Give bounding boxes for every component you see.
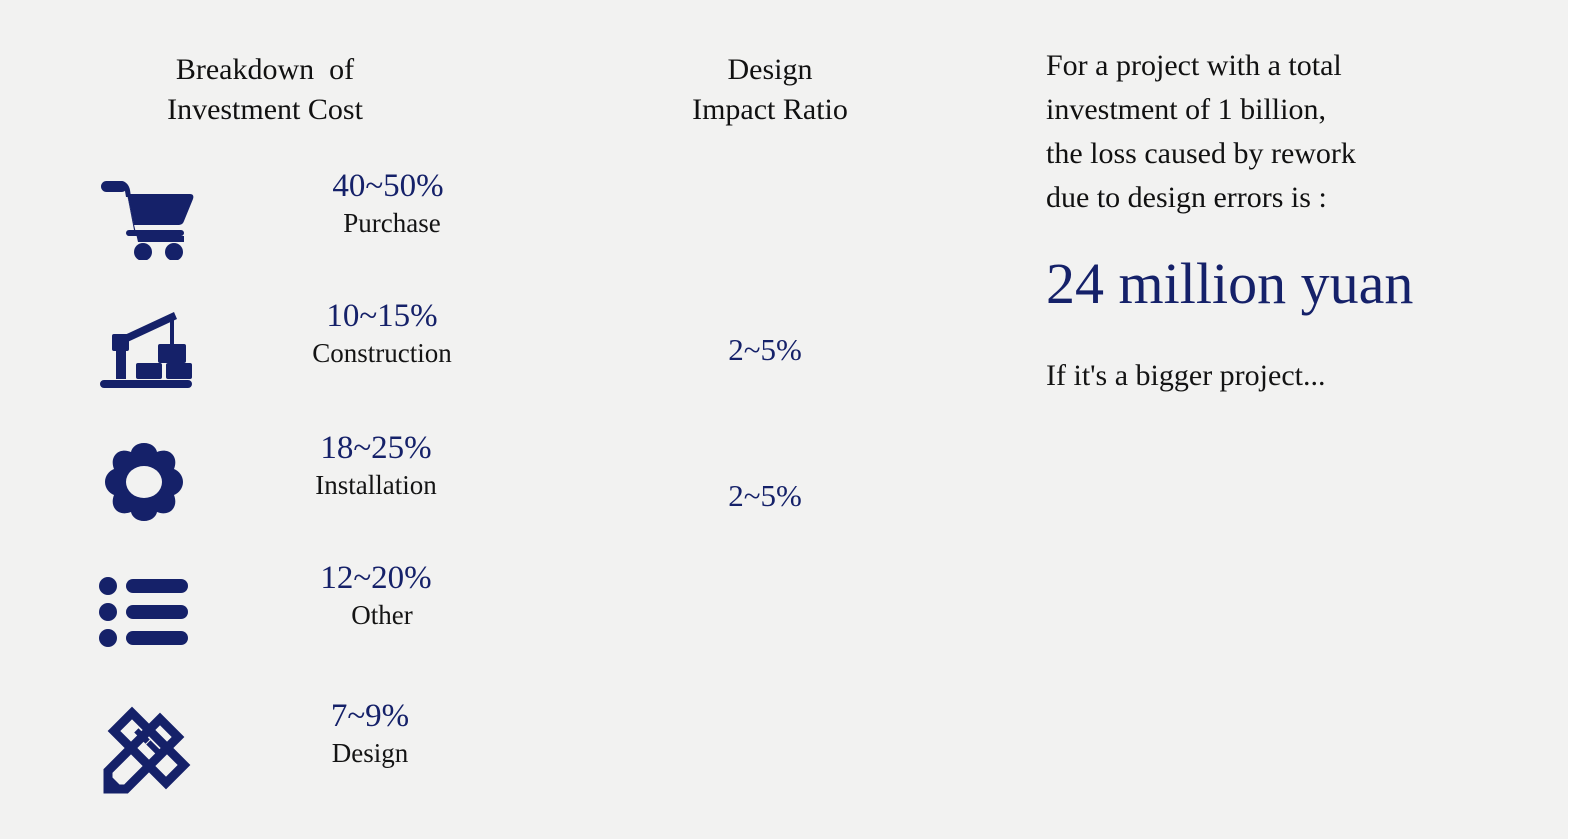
bulleted-list-icon [98,562,208,662]
table-row: 40~50% Purchase [0,170,1000,290]
row-label-group: 10~15% Construction [252,296,512,370]
column-header-design-impact-ratio: Design Impact Ratio [620,50,920,130]
percent-value: 7~9% [240,696,500,736]
percent-value: 18~25% [246,428,506,468]
row-label-group: 12~20% Other [246,558,506,632]
category-label: Purchase [258,206,518,240]
category-label: Construction [252,336,512,370]
percent-value: 10~15% [252,296,512,336]
conclusion-panel: For a project with a total investment of… [1046,44,1556,396]
row-label-group: 40~50% Purchase [258,166,518,240]
gear-icon [98,432,208,532]
construction-crane-icon [98,300,208,400]
impact-ratio-value: 2~5% [620,476,910,516]
table-row: 7~9% Design [0,700,1000,820]
shopping-cart-icon [98,170,208,270]
percent-value: 12~20% [246,558,506,598]
percent-value: 40~50% [258,166,518,206]
headline-loss-amount: 24 million yuan [1046,252,1556,316]
table-row: 10~15% Construction 2~5% [0,300,1000,420]
table-row: 18~25% Installation 2~5% [0,432,1000,552]
category-label: Installation [246,468,506,502]
row-label-group: 18~25% Installation [246,428,506,502]
table-row: 12~20% Other [0,562,1000,682]
outro-paragraph: If it's a bigger project... [1046,356,1556,396]
impact-ratio-value: 2~5% [620,330,910,370]
infographic-slide: Breakdown of Investment Cost Design Impa… [0,0,1568,839]
column-header-breakdown-of-investment-cost: Breakdown of Investment Cost [105,50,425,130]
row-label-group: 7~9% Design [240,696,500,770]
intro-paragraph: For a project with a total investment of… [1046,44,1556,220]
category-label: Design [240,736,500,770]
ruler-pencil-icon [98,700,208,800]
category-label: Other [246,598,506,632]
